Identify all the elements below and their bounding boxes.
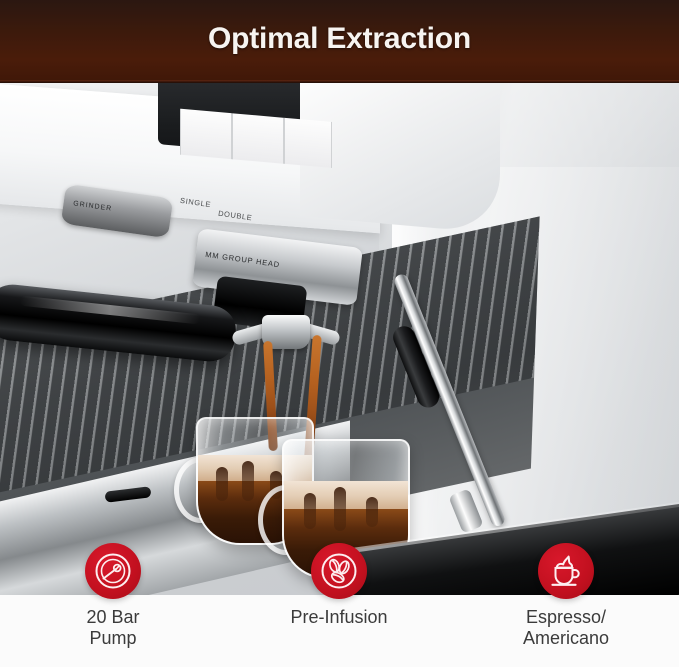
brew-streak [366, 497, 378, 527]
brew-streak [304, 493, 316, 529]
feature-item-espresso: Espresso/ Americano [453, 543, 679, 649]
brew-streak [242, 461, 254, 501]
pressure-gauge-icon [85, 543, 141, 599]
page-title: Optimal Extraction [0, 22, 679, 56]
coffee-beans-icon [311, 543, 367, 599]
double-shot-button[interactable] [232, 113, 284, 164]
feature-label-preinfusion: Pre-Infusion [226, 607, 452, 628]
brew-streak [216, 467, 228, 501]
feature-label-pump: 20 Bar Pump [0, 607, 226, 649]
coffee-cup-icon [538, 543, 594, 599]
product-photo: SINGLE DOUBLE GRINDER MM GROUP HEAD [0, 83, 679, 595]
feature-item-pump: 20 Bar Pump [0, 543, 226, 649]
header-banner: Optimal Extraction [0, 0, 679, 83]
power-button[interactable] [284, 118, 332, 168]
brew-streak [334, 487, 346, 531]
feature-item-preinfusion: Pre-Infusion [226, 543, 452, 628]
single-shot-button[interactable] [180, 109, 232, 160]
product-feature-image: Optimal Extraction SINGLE DOUBLE GRINDER… [0, 0, 679, 667]
feature-label-espresso: Espresso/ Americano [453, 607, 679, 649]
